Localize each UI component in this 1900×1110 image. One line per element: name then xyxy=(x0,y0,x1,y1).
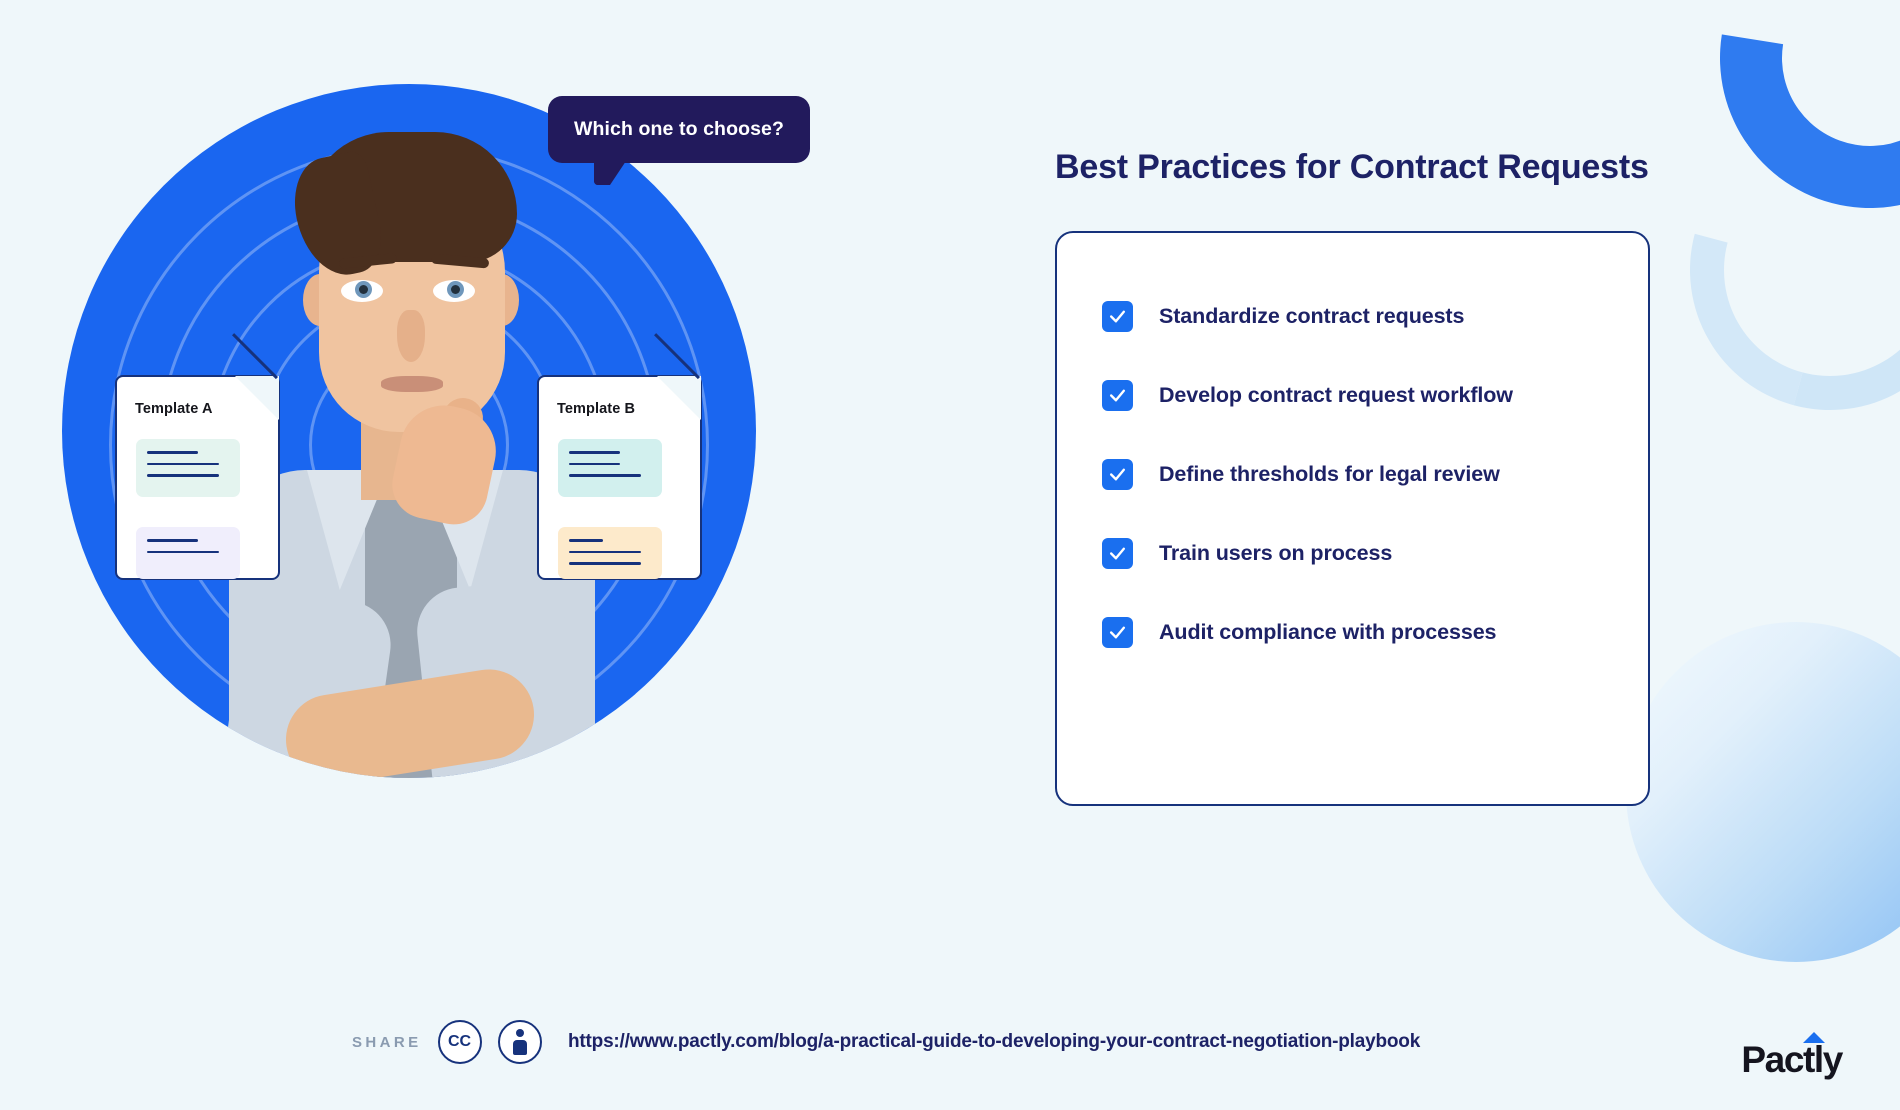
template-card-b[interactable]: Template B xyxy=(537,375,702,580)
logo-text: Pactly xyxy=(1741,1039,1842,1080)
checklist-item-label: Define thresholds for legal review xyxy=(1159,462,1500,487)
template-b-block-1 xyxy=(558,439,662,497)
template-text-line xyxy=(569,451,620,454)
template-text-line xyxy=(569,463,620,466)
template-text-line xyxy=(147,551,219,554)
template-a-title: Template A xyxy=(135,401,213,417)
template-text-line xyxy=(569,539,603,542)
template-a-block-1 xyxy=(136,439,240,497)
checklist-item-label: Train users on process xyxy=(1159,541,1392,566)
template-text-line xyxy=(147,463,219,466)
checklist-item-label: Standardize contract requests xyxy=(1159,304,1464,329)
hero-illustration: Template A Template B Which one to choos… xyxy=(0,0,860,1000)
share-url[interactable]: https://www.pactly.com/blog/a-practical-… xyxy=(568,1031,1420,1053)
page-fold-corner-icon xyxy=(657,376,701,420)
template-b-block-2 xyxy=(558,527,662,579)
checkbox-checked-icon[interactable] xyxy=(1102,538,1133,569)
template-b-title: Template B xyxy=(557,401,635,417)
checkbox-checked-icon[interactable] xyxy=(1102,380,1133,411)
checklist-item[interactable]: Audit compliance with processes xyxy=(1102,601,1648,664)
person-eye-right xyxy=(433,280,475,302)
template-text-line xyxy=(569,474,641,477)
checkbox-checked-icon[interactable] xyxy=(1102,459,1133,490)
speech-bubble: Which one to choose? xyxy=(548,96,810,163)
attribution-by-icon[interactable] xyxy=(498,1020,542,1064)
person-nose xyxy=(397,310,425,362)
template-text-line xyxy=(147,474,219,477)
pactly-logo[interactable]: Pactly xyxy=(1741,1041,1842,1078)
checklist-item[interactable]: Define thresholds for legal review xyxy=(1102,443,1648,506)
checklist-item-label: Develop contract request workflow xyxy=(1159,383,1513,408)
checklist-item[interactable]: Develop contract request workflow xyxy=(1102,364,1648,427)
template-text-line xyxy=(147,539,198,542)
checklist-item-label: Audit compliance with processes xyxy=(1159,620,1496,645)
template-text-line xyxy=(569,562,641,565)
template-a-block-2 xyxy=(136,527,240,579)
footer-bar: SHARE CC https://www.pactly.com/blog/a-p… xyxy=(0,990,1900,1110)
creative-commons-icon[interactable]: CC xyxy=(438,1020,482,1064)
template-card-a[interactable]: Template A xyxy=(115,375,280,580)
logo-chevron-icon xyxy=(1803,1032,1825,1043)
cc-icon-label: CC xyxy=(448,1033,471,1051)
checklist-card: Standardize contract requestsDevelop con… xyxy=(1055,231,1650,806)
page-title: Best Practices for Contract Requests xyxy=(1055,148,1755,187)
checklist-item[interactable]: Standardize contract requests xyxy=(1102,285,1648,348)
best-practices-panel: Best Practices for Contract Requests Sta… xyxy=(1055,0,1755,806)
checklist-item[interactable]: Train users on process xyxy=(1102,522,1648,585)
person-eye-left xyxy=(341,280,383,302)
checkbox-checked-icon[interactable] xyxy=(1102,617,1133,648)
person-glyph-icon xyxy=(512,1029,528,1055)
speech-bubble-tail xyxy=(594,161,626,185)
template-text-line xyxy=(147,451,198,454)
speech-bubble-text: Which one to choose? xyxy=(574,118,784,140)
template-text-line xyxy=(569,551,641,554)
share-group: SHARE CC xyxy=(352,1020,542,1064)
share-label: SHARE xyxy=(352,1034,422,1051)
page-fold-corner-icon xyxy=(235,376,279,420)
person-mouth xyxy=(381,376,443,392)
checkbox-checked-icon[interactable] xyxy=(1102,301,1133,332)
